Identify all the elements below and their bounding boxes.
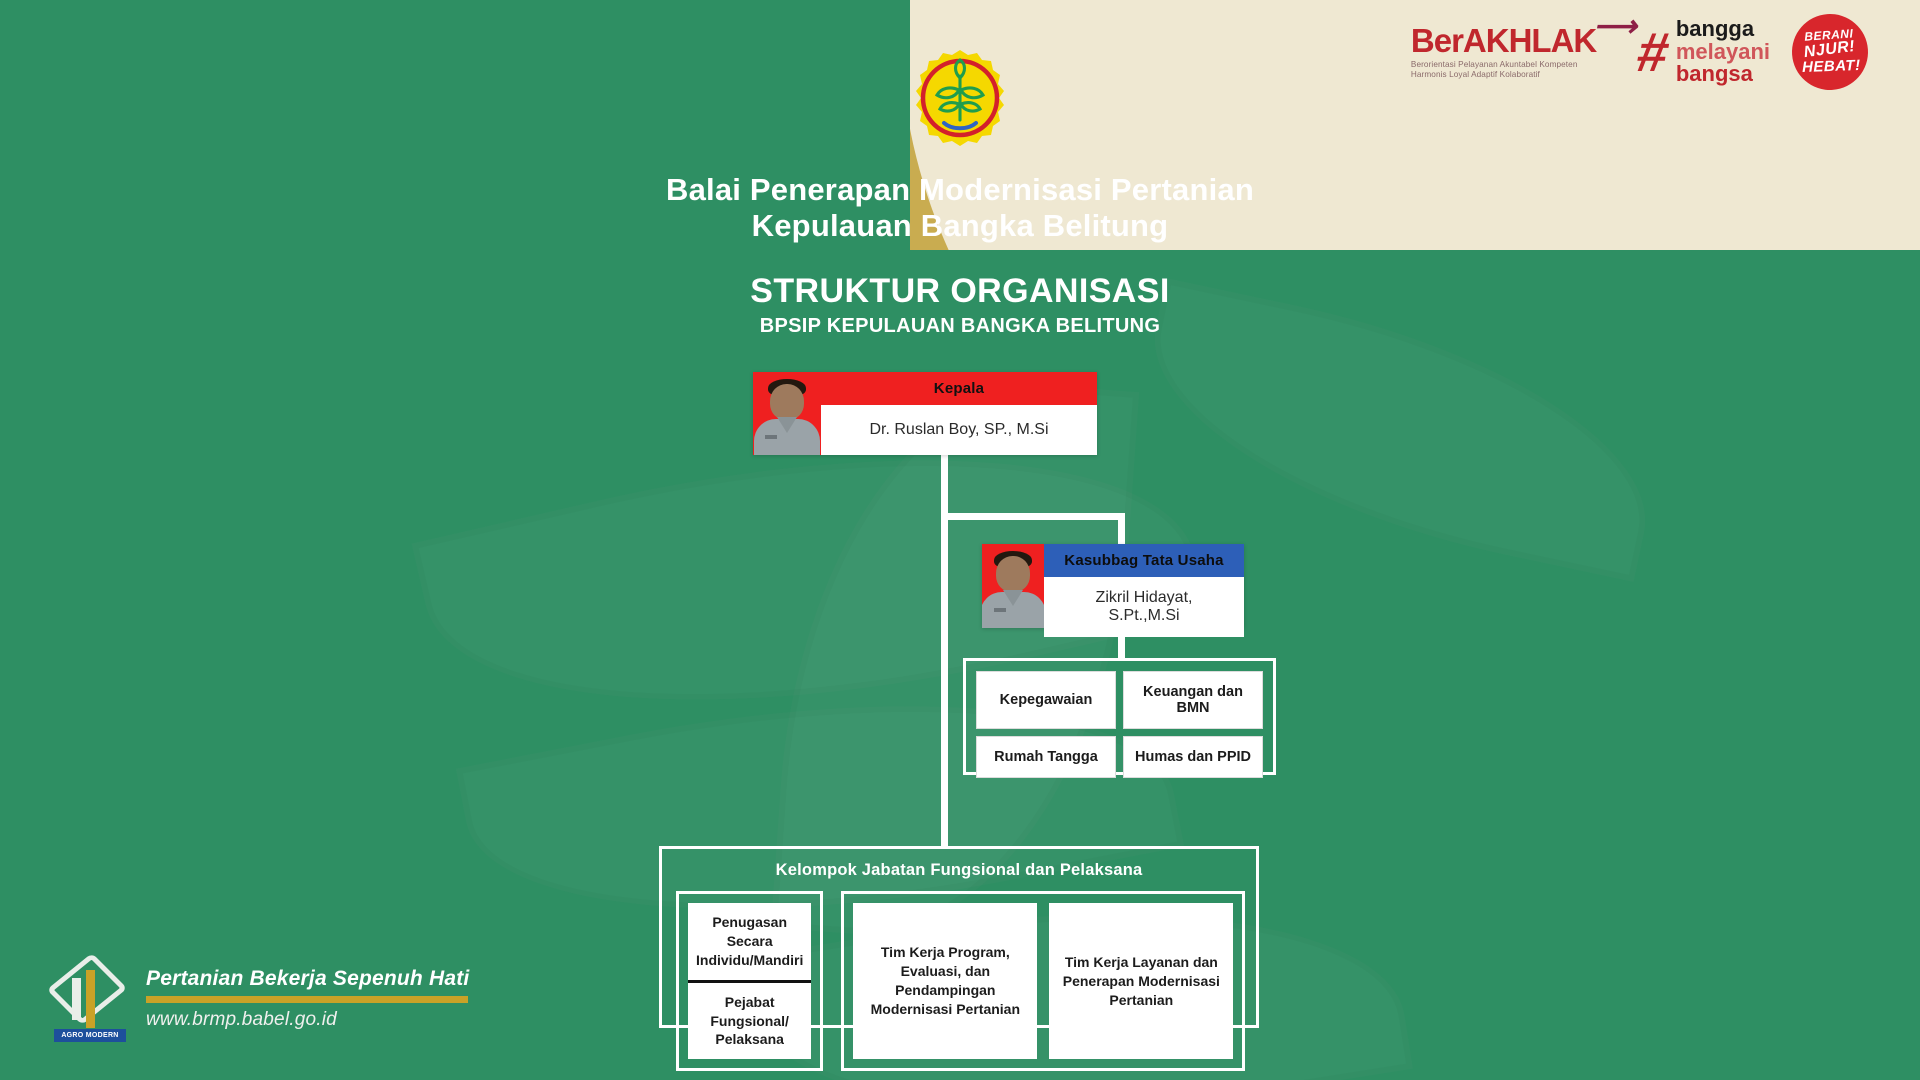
card-kepala[interactable]: Kepala Dr. Ruslan Boy, SP., M.Si (753, 372, 1097, 455)
logo-gold-bar (86, 970, 95, 1028)
berakhlak-word-text: BerAKHLAK (1411, 22, 1596, 59)
swoosh-icon: ⟶ (1593, 12, 1621, 42)
kepala-photo (753, 372, 821, 455)
kepala-details: Kepala Dr. Ruslan Boy, SP., M.Si (821, 372, 1097, 455)
bangga-line3: bangsa (1676, 63, 1770, 85)
berakhlak-wordmark: BerAKHLAK ⟶ (1411, 24, 1616, 57)
subunit-keuangan-dan-bmn[interactable]: Keuangan dan BMN (1123, 671, 1263, 729)
card-tim-kerja-program[interactable]: Tim Kerja Program, Evaluasi, dan Pendamp… (853, 903, 1037, 1059)
connector-kepala-vertical (941, 455, 948, 520)
kepala-role-label: Kepala (821, 372, 1097, 405)
struktur-organisasi-title: STRUKTUR ORGANISASI (0, 272, 1920, 311)
photo-badge (765, 435, 777, 439)
card-tim-kerja-layanan[interactable]: Tim Kerja Layanan dan Penerapan Modernis… (1049, 903, 1233, 1059)
photo-face (996, 556, 1030, 592)
logo-white-bar (72, 978, 81, 1020)
footer-website-url[interactable]: www.brmp.babel.go.id (146, 1009, 469, 1031)
bangga-wordmark: bangga melayani bangsa (1676, 18, 1770, 85)
kepala-name-label: Dr. Ruslan Boy, SP., M.Si (821, 405, 1097, 455)
berakhlak-tagline-line1: Berorientasi Pelayanan Akuntabel Kompete… (1411, 60, 1578, 70)
card-penugasan-individu[interactable]: Penugasan Secara Individu/Mandiri (688, 903, 811, 983)
org-chart-heading: STRUKTUR ORGANISASI BPSIP KEPULAUAN BANG… (0, 272, 1920, 338)
functional-group: Kelompok Jabatan Fungsional dan Pelaksan… (659, 846, 1259, 1028)
agro-modern-label: AGRO MODERN (54, 1029, 126, 1042)
functional-group-title: Kelompok Jabatan Fungsional dan Pelaksan… (676, 861, 1242, 880)
connector-branch-horizontal (941, 513, 1125, 520)
photo-badge (994, 608, 1006, 612)
footer-texts: Pertanian Bekerja Sepenuh Hati www.brmp.… (146, 967, 469, 1031)
bangga-line1: bangga (1676, 18, 1770, 40)
footer-divider (146, 996, 468, 1003)
card-kasubbag-tata-usaha[interactable]: Kasubbag Tata Usaha Zikril Hidayat, S.Pt… (982, 544, 1244, 628)
subunit-kepegawaian[interactable]: Kepegawaian (976, 671, 1116, 729)
header-logos: BerAKHLAK ⟶ Berorientasi Pelayanan Akunt… (1411, 14, 1868, 90)
footer-slogan: Pertanian Bekerja Sepenuh Hati (146, 967, 469, 991)
individual-assignment-panel: Penugasan Secara Individu/Mandiri Pejaba… (676, 891, 823, 1071)
institution-title: Balai Penerapan Modernisasi Pertanian Ke… (0, 172, 1920, 244)
berani-line3: HEBAT! (1801, 58, 1860, 76)
berani-njur-hebat-logo: BERANI NJUR! HEBAT! (1789, 11, 1870, 92)
connector-kasubbag-vertical (1118, 513, 1125, 548)
kasubbag-photo (982, 544, 1044, 628)
institution-line2: Kepulauan Bangka Belitung (0, 208, 1920, 244)
teams-panel: Tim Kerja Program, Evaluasi, dan Pendamp… (841, 891, 1245, 1071)
berakhlak-tagline: Berorientasi Pelayanan Akuntabel Kompete… (1411, 60, 1578, 81)
subunit-group: Kepegawaian Keuangan dan BMN Rumah Tangg… (963, 658, 1276, 775)
berakhlak-tagline-line2: Harmonis Loyal Adaptif Kolaboratif (1411, 70, 1578, 80)
individual-assignment-stack: Penugasan Secara Individu/Mandiri Pejaba… (688, 903, 811, 1059)
kementerian-pertanian-logo-icon (910, 48, 1010, 153)
connector-kepala-to-functional (941, 513, 948, 846)
bangga-line2: melayani (1676, 41, 1770, 63)
subunit-rumah-tangga[interactable]: Rumah Tangga (976, 736, 1116, 778)
photo-face (770, 384, 804, 420)
bangga-melayani-bangsa-logo: # bangga melayani bangsa (1638, 18, 1770, 85)
card-pejabat-fungsional[interactable]: Pejabat Fungsional/ Pelaksana (688, 983, 811, 1060)
footer-brand: AGRO MODERN Pertanian Bekerja Sepenuh Ha… (52, 956, 469, 1042)
kasubbag-name-label: Zikril Hidayat, S.Pt.,M.Si (1044, 577, 1244, 637)
struktur-organisasi-subtitle: BPSIP KEPULAUAN BANGKA BELITUNG (0, 315, 1920, 338)
kasubbag-details: Kasubbag Tata Usaha Zikril Hidayat, S.Pt… (1044, 544, 1244, 628)
institution-line1: Balai Penerapan Modernisasi Pertanian (0, 172, 1920, 208)
functional-group-columns: Penugasan Secara Individu/Mandiri Pejaba… (676, 891, 1242, 1071)
berakhlak-logo: BerAKHLAK ⟶ Berorientasi Pelayanan Akunt… (1411, 24, 1616, 81)
agro-modern-logo-icon: AGRO MODERN (52, 956, 128, 1042)
subunit-humas-dan-ppid[interactable]: Humas dan PPID (1123, 736, 1263, 778)
kasubbag-role-label: Kasubbag Tata Usaha (1044, 544, 1244, 577)
hashtag-icon: # (1634, 30, 1672, 74)
